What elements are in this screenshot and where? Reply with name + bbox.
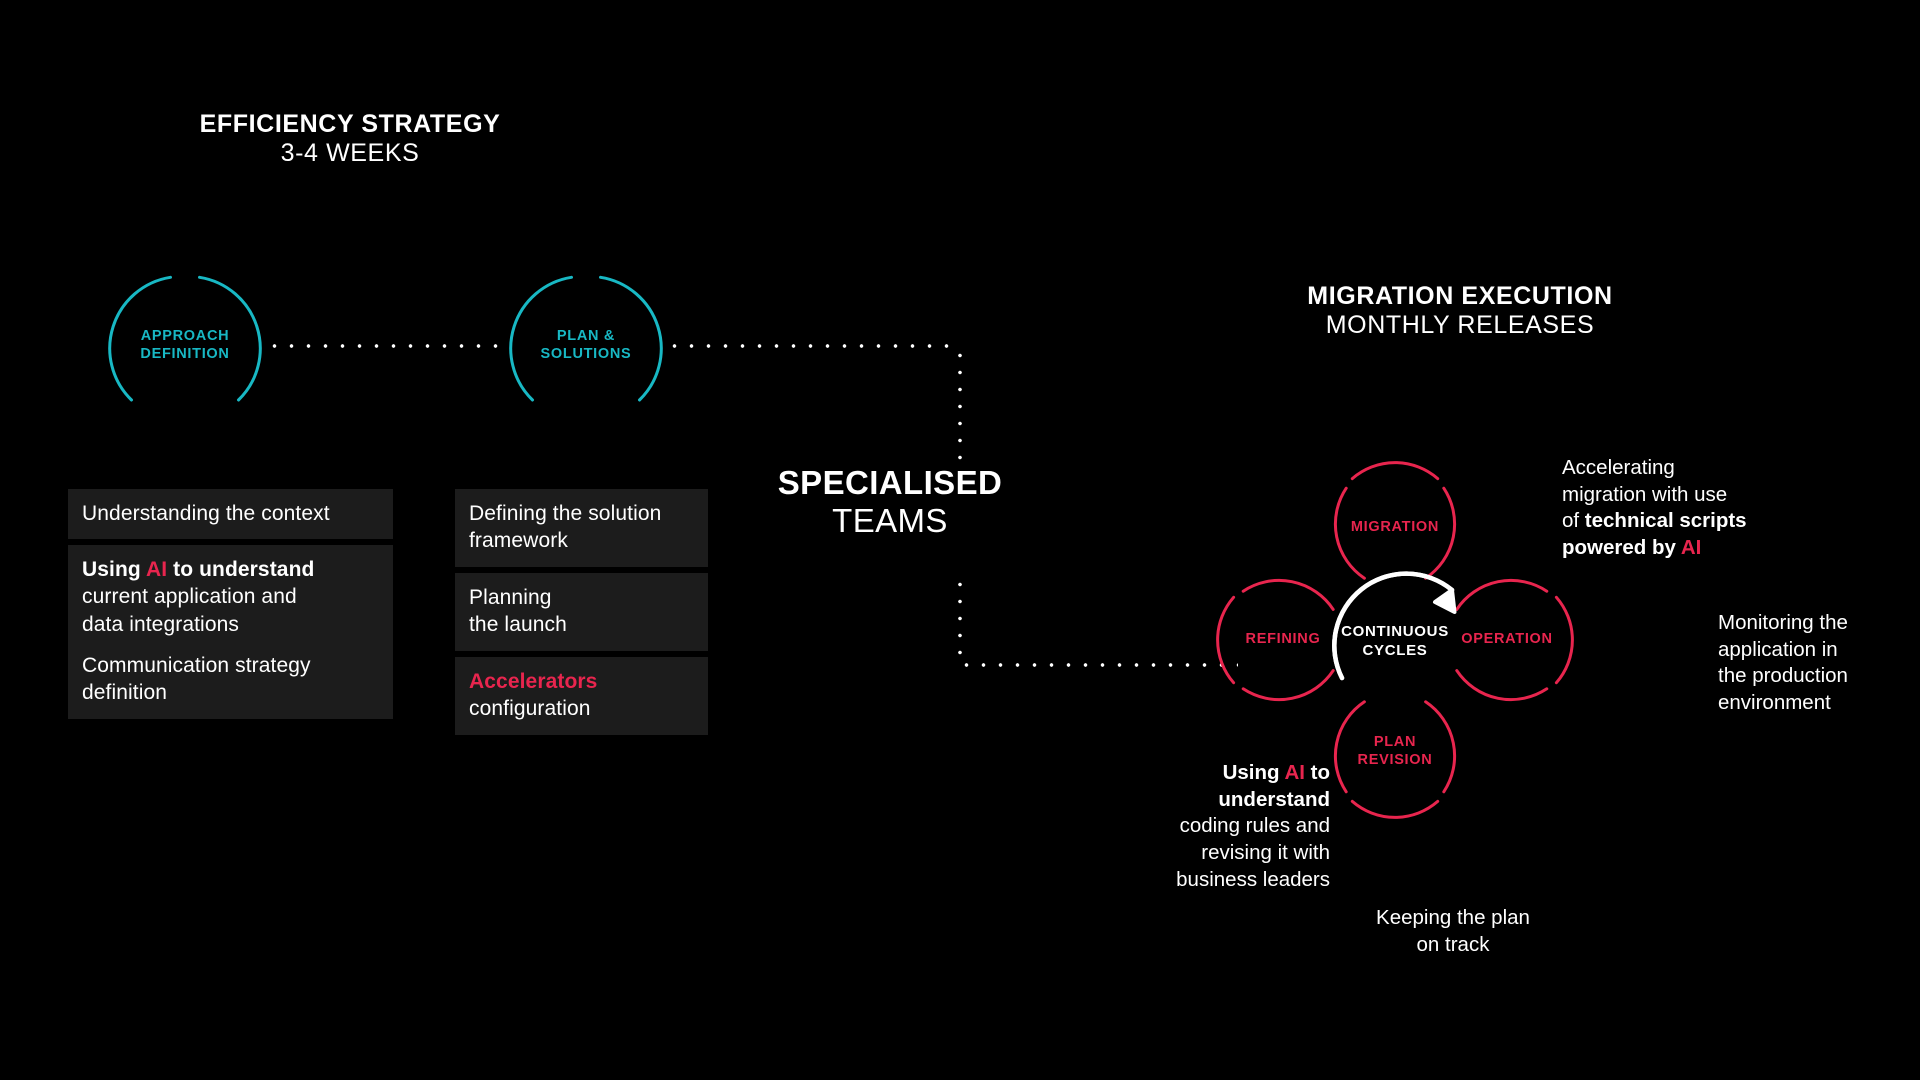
heading-migration-subtitle: MONTHLY RELEASES xyxy=(1260,311,1660,341)
connector-teams-vertical-bottom xyxy=(958,576,962,665)
connector-approach-to-plan xyxy=(266,344,503,348)
heading-efficiency-strategy: EFFICIENCY STRATEGY 3-4 WEEKS xyxy=(120,110,580,169)
note-line-bold: Using xyxy=(1223,761,1285,784)
specialised-teams-block: SPECIALISED TEAMS xyxy=(740,465,1040,540)
center-line-2: CYCLES xyxy=(1362,642,1427,659)
note-line-bold: to xyxy=(1305,761,1330,784)
note-line-bold: technical scripts xyxy=(1585,509,1747,532)
note-line: Monitoring the xyxy=(1718,611,1848,634)
label-line-1: REFINING xyxy=(1246,631,1321,647)
box-text-ai: AI xyxy=(146,558,167,581)
center-line-1: CONTINUOUS xyxy=(1341,623,1449,640)
cycle-center-label: CONTINUOUS CYCLES xyxy=(1320,622,1470,660)
box-communication-strategy-definition[interactable]: Communication strategy definition xyxy=(68,641,393,719)
note-line-bold: powered by xyxy=(1562,536,1681,559)
box-text-part: to understand xyxy=(167,558,314,581)
box-text-part: the launch xyxy=(469,613,567,636)
note-migration: Accelerating migration with use of techn… xyxy=(1562,455,1807,562)
heading-migration-title: MIGRATION EXECUTION xyxy=(1260,282,1660,311)
box-text-part: Using xyxy=(82,558,146,581)
note-operation: Monitoring the application in the produc… xyxy=(1718,610,1920,717)
box-text-part: Defining the solution xyxy=(469,502,661,525)
note-plan-revision: Keeping the plan on track xyxy=(1328,905,1578,958)
box-planning-the-launch[interactable]: Planning the launch xyxy=(455,573,708,651)
note-line: Accelerating xyxy=(1562,456,1675,479)
heading-efficiency-title: EFFICIENCY STRATEGY xyxy=(120,110,580,139)
note-refining: Using AI to understand coding rules and … xyxy=(1090,760,1330,893)
label-line-1: OPERATION xyxy=(1461,631,1552,647)
label-line-1: MIGRATION xyxy=(1351,519,1439,535)
box-text-accelerators: Accelerators xyxy=(469,670,597,693)
node-approach-definition[interactable]: APPROACH DEFINITION xyxy=(107,270,263,426)
label-line-2: SOLUTIONS xyxy=(541,346,632,362)
note-line: of xyxy=(1562,509,1585,532)
note-ai: AI xyxy=(1681,536,1702,559)
box-text: Understanding the context xyxy=(82,502,330,525)
note-ai: AI xyxy=(1284,761,1305,784)
node-approach-definition-label: APPROACH DEFINITION xyxy=(107,327,263,363)
note-line: Keeping the plan xyxy=(1376,906,1530,929)
note-line-bold: understand xyxy=(1218,788,1330,811)
label-line-1: PLAN & xyxy=(557,328,615,344)
specialised-teams-line-2: TEAMS xyxy=(740,502,1040,540)
label-line-1: APPROACH xyxy=(141,328,230,344)
note-line: the production xyxy=(1718,664,1848,687)
connector-teams-vertical-top xyxy=(958,347,962,468)
heading-efficiency-subtitle: 3-4 WEEKS xyxy=(120,139,580,169)
cycle-label-plan-revision[interactable]: PLAN REVISION xyxy=(1320,733,1470,769)
note-line: coding rules and xyxy=(1180,814,1330,837)
note-line: environment xyxy=(1718,691,1831,714)
label-line-2: DEFINITION xyxy=(140,346,229,362)
box-text-part: Communication strategy xyxy=(82,654,311,677)
note-line: application in xyxy=(1718,638,1838,661)
box-text-part: current application and xyxy=(82,585,297,608)
specialised-teams-line-1: SPECIALISED xyxy=(740,465,1040,502)
box-text-part: definition xyxy=(82,681,167,704)
box-accelerators-configuration[interactable]: Accelerators configuration xyxy=(455,657,708,735)
note-line: business leaders xyxy=(1176,868,1330,891)
box-understanding-the-context[interactable]: Understanding the context xyxy=(68,489,393,539)
node-plan-solutions-label: PLAN & SOLUTIONS xyxy=(508,327,664,363)
box-text-part: Planning xyxy=(469,586,552,609)
note-line: revising it with xyxy=(1201,841,1330,864)
node-plan-solutions[interactable]: PLAN & SOLUTIONS xyxy=(508,270,664,426)
box-defining-the-solution-framework[interactable]: Defining the solution framework xyxy=(455,489,708,567)
heading-migration-execution: MIGRATION EXECUTION MONTHLY RELEASES xyxy=(1260,282,1660,341)
connector-plan-to-teams-horizontal xyxy=(666,344,960,348)
label-line-1: PLAN xyxy=(1374,734,1416,750)
box-text-part: framework xyxy=(469,529,568,552)
box-text-part: configuration xyxy=(469,697,591,720)
box-text-part: data integrations xyxy=(82,613,239,636)
cycle-label-migration[interactable]: MIGRATION xyxy=(1320,518,1470,536)
box-using-ai-to-understand[interactable]: Using AI to understand current applicati… xyxy=(68,545,393,650)
note-line: on track xyxy=(1417,933,1490,956)
label-line-2: REVISION xyxy=(1358,752,1433,768)
diagram-canvas: EFFICIENCY STRATEGY 3-4 WEEKS MIGRATION … xyxy=(0,0,1920,1080)
note-line: migration with use xyxy=(1562,483,1727,506)
